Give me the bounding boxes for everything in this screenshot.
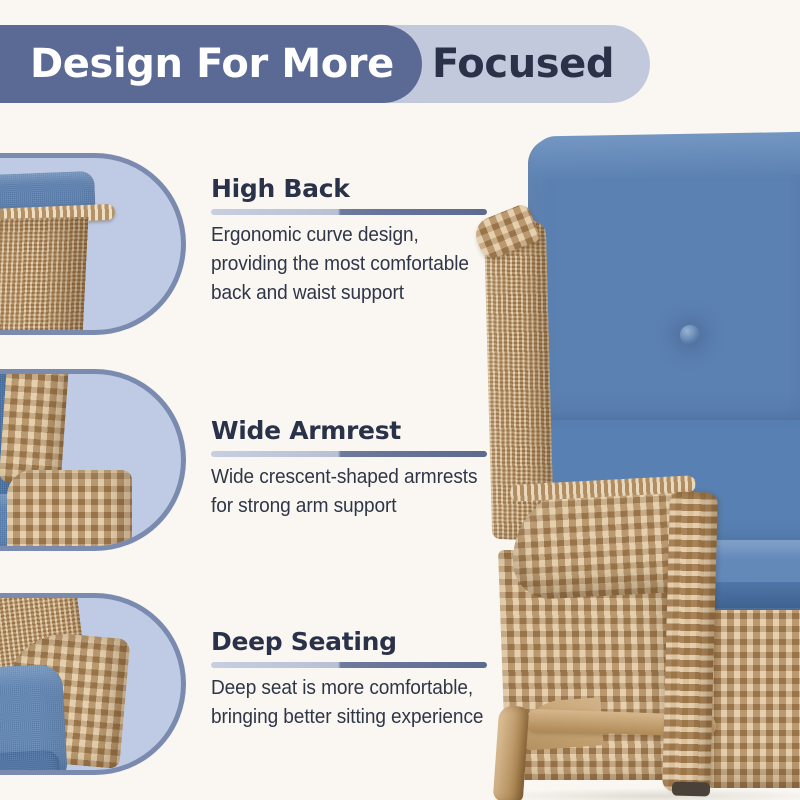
detail-armrest-lower xyxy=(7,470,132,546)
header-banner: Design For More Focused xyxy=(0,25,800,103)
callout-image-deep-seating xyxy=(0,598,181,770)
feature-divider-rule xyxy=(211,662,487,668)
chair-cushion-tuft-button xyxy=(680,325,700,345)
callout-image-wide-armrest xyxy=(0,374,181,546)
header-title-primary: Design For More xyxy=(30,25,394,103)
feature-description-line: for strong arm support xyxy=(211,492,527,521)
detail-back-panel xyxy=(0,217,88,330)
feature-title: Wide Armrest xyxy=(211,418,551,444)
callout-image-high-back xyxy=(0,158,181,330)
chair-front-leg-post xyxy=(662,491,718,792)
chair-front-foot-cap xyxy=(672,782,710,797)
feature-title: Deep Seating xyxy=(211,629,551,655)
detail-seat-front-edge xyxy=(0,750,61,770)
feature-block-deep-seating: Deep Seating Deep seat is more comfortab… xyxy=(211,629,551,732)
header-title-accent: Focused xyxy=(432,25,614,103)
feature-description: Ergonomic curve design, providing the mo… xyxy=(211,221,527,307)
callout-high-back-detail xyxy=(0,153,186,335)
feature-description-line: Wide crescent-shaped armrests xyxy=(211,463,527,492)
feature-description: Deep seat is more comfortable, bringing … xyxy=(211,674,527,731)
callout-wide-armrest-detail xyxy=(0,369,186,551)
feature-block-wide-armrest: Wide Armrest Wide crescent-shaped armres… xyxy=(211,418,551,521)
chair-ground-shadow xyxy=(490,788,800,800)
chair-back-cushion-top-edge xyxy=(532,131,800,178)
feature-description-line: bringing better sitting experience xyxy=(211,703,527,732)
feature-description-line: Deep seat is more comfortable, xyxy=(211,674,527,703)
feature-title: High Back xyxy=(211,176,551,202)
infographic-canvas: Design For More Focused xyxy=(0,0,800,800)
feature-block-high-back: High Back Ergonomic curve design, provid… xyxy=(211,176,551,307)
feature-description-line: Ergonomic curve design, xyxy=(211,221,527,250)
feature-description: Wide crescent-shaped armrests for strong… xyxy=(211,463,527,520)
chair-back-cushion xyxy=(528,138,800,438)
feature-description-line: providing the most comfortable xyxy=(211,250,527,279)
callout-deep-seating-detail xyxy=(0,593,186,775)
feature-divider-rule xyxy=(211,209,487,215)
feature-divider-rule xyxy=(211,451,487,457)
feature-description-line: back and waist support xyxy=(211,279,527,308)
